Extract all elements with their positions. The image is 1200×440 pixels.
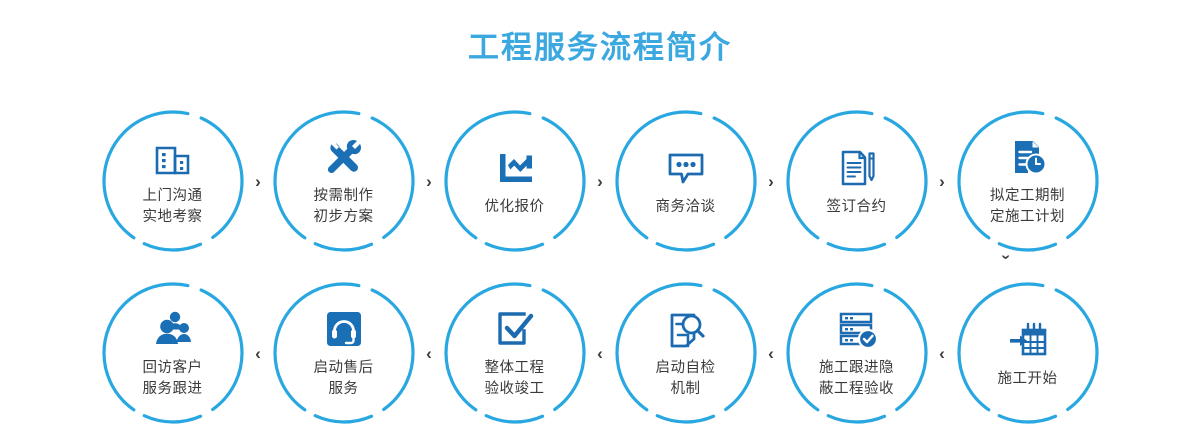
- step-label: 施工开始: [998, 369, 1058, 390]
- step-label: 施工跟进隐 蔽工程验收: [819, 358, 894, 400]
- connector-down: ›: [994, 246, 1018, 268]
- step-label: 启动自检 机制: [656, 358, 716, 400]
- step-label: 按需制作 初步方案: [314, 186, 374, 228]
- chevron-left-icon: ‹: [255, 345, 261, 362]
- flow-row-2: 回访客户 服务跟进 ‹: [0, 268, 1200, 438]
- step-label-line2: 服务跟进: [143, 379, 203, 400]
- step-label: 启动售后 服务: [314, 358, 374, 400]
- step-label: 商务洽谈: [656, 197, 716, 218]
- connector-right-4: ›: [760, 107, 783, 255]
- step-label-line1: 启动售后: [314, 358, 374, 379]
- connector-left-1: ‹: [247, 279, 270, 427]
- chevron-right-icon: ›: [597, 173, 603, 190]
- step-label-line2: 服务: [314, 379, 374, 400]
- chevron-right-icon: ›: [768, 173, 774, 190]
- step-label-line1: 上门沟通: [143, 186, 203, 207]
- connector-left-5: ‹: [931, 279, 954, 427]
- connector-right-2: ›: [418, 107, 441, 255]
- step-node-9[interactable]: 启动自检 机制: [612, 279, 760, 427]
- flow-row-1: 上门沟通 实地考察 ›: [0, 96, 1200, 266]
- connector-left-3: ‹: [589, 279, 612, 427]
- step-label: 拟定工期制 定施工计划: [990, 186, 1065, 228]
- step-label-line1: 优化报价: [485, 197, 545, 218]
- chevron-left-icon: ‹: [426, 345, 432, 362]
- step-label-line2: 定施工计划: [990, 207, 1065, 228]
- connector-left-2: ‹: [418, 279, 441, 427]
- step-node-1[interactable]: 上门沟通 实地考察: [99, 107, 247, 255]
- chevron-right-icon: ›: [426, 173, 432, 190]
- step-label-line1: 按需制作: [314, 186, 374, 207]
- step-label-line1: 回访客户: [143, 358, 203, 379]
- calendar-arrow-icon: [1005, 317, 1051, 363]
- step-label: 上门沟通 实地考察: [143, 186, 203, 228]
- page-title: 工程服务流程简介: [0, 22, 1200, 67]
- speech-bubble-icon: [663, 145, 709, 191]
- step-label-line1: 施工跟进隐: [819, 358, 894, 379]
- step-label-line2: 验收竣工: [485, 379, 545, 400]
- checkbox-check-icon: [492, 306, 538, 352]
- step-node-8[interactable]: 施工跟进隐 蔽工程验收: [783, 279, 931, 427]
- connector-right-5: ›: [931, 107, 954, 255]
- step-node-11[interactable]: 启动售后 服务: [270, 279, 418, 427]
- step-node-10[interactable]: 整体工程 验收竣工: [441, 279, 589, 427]
- step-label-line1: 整体工程: [485, 358, 545, 379]
- step-node-5[interactable]: 签订合约: [783, 107, 931, 255]
- step-node-12[interactable]: 回访客户 服务跟进: [99, 279, 247, 427]
- step-label-line1: 施工开始: [998, 369, 1058, 390]
- step-label-line1: 启动自检: [656, 358, 716, 379]
- tools-wrench-screwdriver-icon: [321, 134, 367, 180]
- chevron-left-icon: ‹: [939, 345, 945, 362]
- step-label: 回访客户 服务跟进: [143, 358, 203, 400]
- chevron-left-icon: ‹: [597, 345, 603, 362]
- process-flow-infographic: 工程服务流程简介: [0, 0, 1200, 440]
- document-clock-icon: [1005, 134, 1051, 180]
- step-node-7[interactable]: 施工开始: [954, 279, 1102, 427]
- chevron-right-icon: ›: [939, 173, 945, 190]
- step-node-3[interactable]: 优化报价: [441, 107, 589, 255]
- server-check-icon: [834, 306, 880, 352]
- connector-right-1: ›: [247, 107, 270, 255]
- contract-pen-icon: [834, 145, 880, 191]
- headset-support-icon: [321, 306, 367, 352]
- step-label: 整体工程 验收竣工: [485, 358, 545, 400]
- people-group-icon: [150, 306, 196, 352]
- step-label-line2: 机制: [656, 379, 716, 400]
- document-magnifier-icon: [663, 306, 709, 352]
- step-label-line1: 商务洽谈: [656, 197, 716, 218]
- step-label-line1: 签订合约: [827, 197, 887, 218]
- building-icon: [150, 134, 196, 180]
- chart-down-arrow-icon: [492, 145, 538, 191]
- step-node-2[interactable]: 按需制作 初步方案: [270, 107, 418, 255]
- step-label-line1: 拟定工期制: [990, 186, 1065, 207]
- step-label: 签订合约: [827, 197, 887, 218]
- step-node-4[interactable]: 商务洽谈: [612, 107, 760, 255]
- connector-right-3: ›: [589, 107, 612, 255]
- step-label: 优化报价: [485, 197, 545, 218]
- chevron-left-icon: ‹: [768, 345, 774, 362]
- chevron-down-icon: ›: [998, 254, 1014, 259]
- step-label-line2: 蔽工程验收: [819, 379, 894, 400]
- step-label-line2: 初步方案: [314, 207, 374, 228]
- step-node-6[interactable]: 拟定工期制 定施工计划: [954, 107, 1102, 255]
- connector-left-4: ‹: [760, 279, 783, 427]
- step-label-line2: 实地考察: [143, 207, 203, 228]
- chevron-right-icon: ›: [255, 173, 261, 190]
